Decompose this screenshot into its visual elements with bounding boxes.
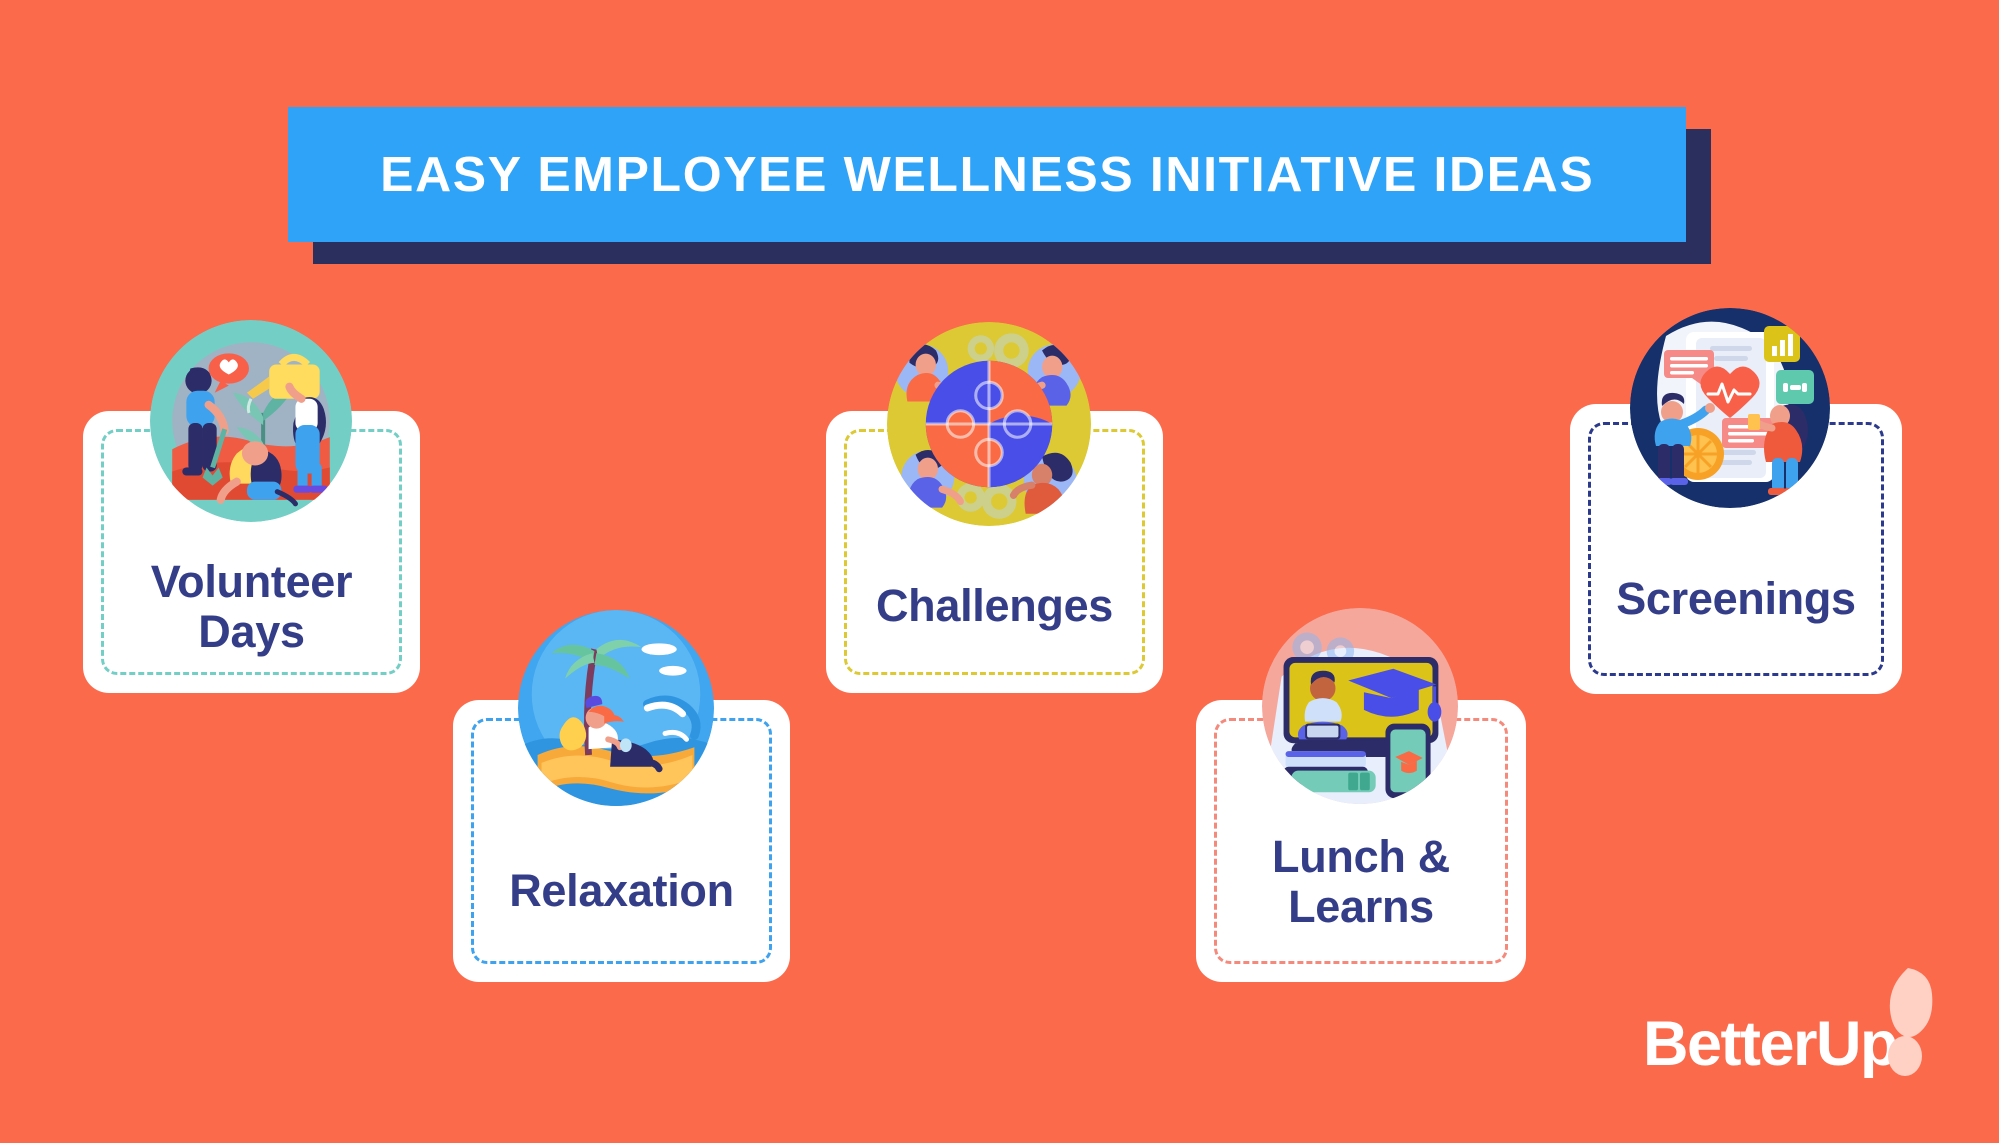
card-label-challenges: Challenges [826,581,1163,631]
card-label-lunch-and-learns: Lunch & Learns [1196,832,1526,933]
card-label-line1: Volunteer [83,557,420,607]
card-label-relaxation: Relaxation [453,866,790,916]
betterup-wordmark: BetterUp [1643,1008,1897,1080]
health-dashboard-icon [1630,308,1830,508]
betterup-logo[interactable]: BetterUp [1643,986,1943,1096]
card-label-line1: Challenges [826,581,1163,631]
puzzle-teamwork-icon [887,322,1091,526]
title-banner: EASY EMPLOYEE WELLNESS INITIATIVE IDEAS [288,107,1686,242]
card-label-line2: Days [83,607,420,657]
volunteer-gardening-icon [150,320,352,522]
card-label-line1: Relaxation [453,866,790,916]
page-title: EASY EMPLOYEE WELLNESS INITIATIVE IDEAS [380,147,1594,203]
infographic-canvas: EASY EMPLOYEE WELLNESS INITIATIVE IDEAS … [0,0,1999,1143]
card-label-line2: Learns [1196,882,1526,932]
online-learning-icon [1262,608,1458,804]
card-label-line1: Lunch & [1196,832,1526,882]
card-label-screenings: Screenings [1570,574,1902,624]
card-label-line1: Screenings [1570,574,1902,624]
betterup-footprint-mark [1877,964,1939,1084]
card-label-volunteer-days: Volunteer Days [83,557,420,658]
title-banner-front: EASY EMPLOYEE WELLNESS INITIATIVE IDEAS [288,107,1686,242]
beach-relaxation-icon [518,610,714,806]
